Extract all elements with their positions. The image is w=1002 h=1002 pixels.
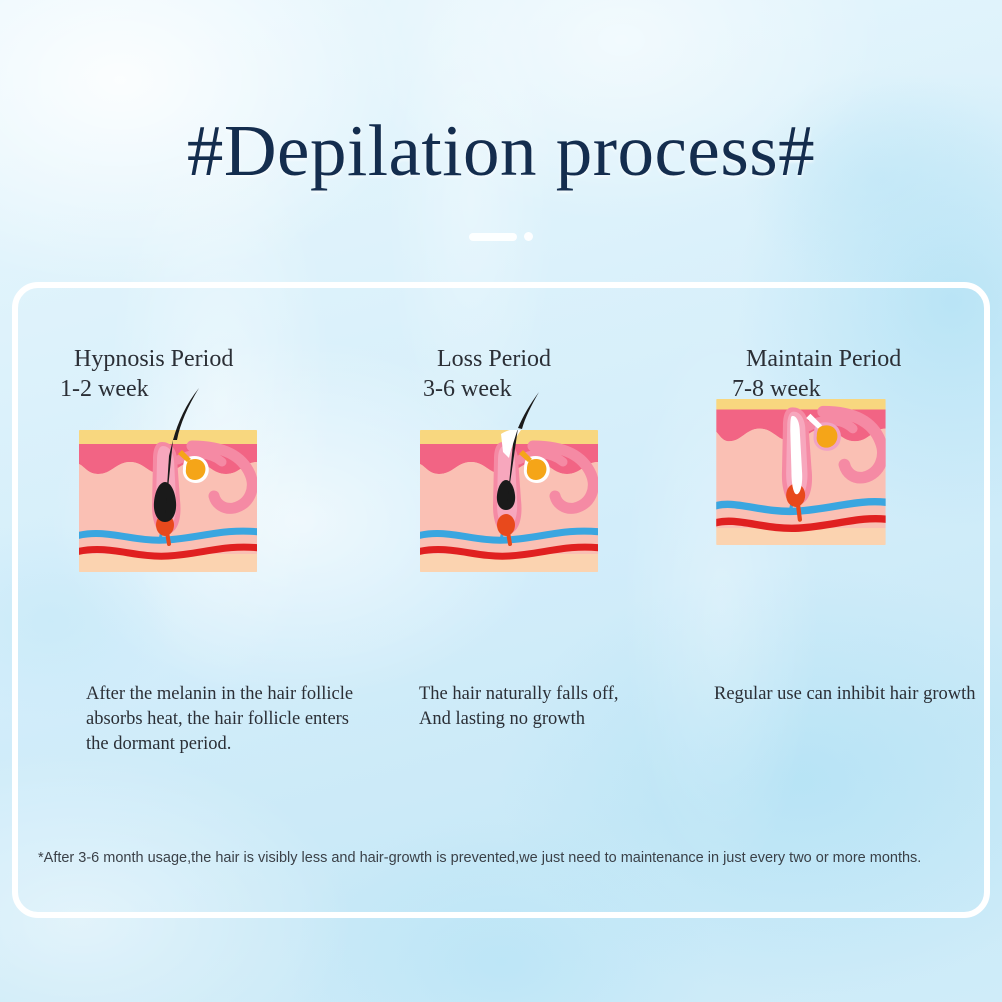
infographic-page: #Depilation process# Hypnosis Period 1-2… bbox=[0, 0, 1002, 1002]
caption-line: After the melanin in the hair follicle bbox=[86, 682, 376, 707]
title-divider bbox=[0, 232, 1002, 241]
process-columns: Hypnosis Period 1-2 week bbox=[12, 282, 990, 918]
caption-line: the dormant period. bbox=[86, 732, 376, 757]
step-period-label: Hypnosis Period bbox=[60, 344, 233, 374]
caption-line: absorbs heat, the hair follicle enters bbox=[86, 707, 376, 732]
caption-line: The hair naturally falls off, bbox=[419, 682, 699, 707]
skin-cross-section-hypnosis bbox=[74, 382, 274, 587]
step-period-label: Loss Period bbox=[423, 344, 551, 374]
footnote-text: *After 3-6 month usage,the hair is visib… bbox=[38, 848, 968, 868]
page-title: #Depilation process# bbox=[0, 112, 1002, 191]
step-caption-maintain: Regular use can inhibit hair growth bbox=[714, 682, 994, 707]
step-caption-hypnosis: After the melanin in the hair follicle a… bbox=[86, 682, 376, 757]
caption-line: And lasting no growth bbox=[419, 707, 699, 732]
skin-cross-section-loss bbox=[415, 382, 615, 587]
step-period-label: Maintain Period bbox=[732, 344, 901, 374]
process-step-maintain: Maintain Period 7-8 week bbox=[702, 282, 982, 918]
process-step-hypnosis: Hypnosis Period 1-2 week bbox=[42, 282, 362, 918]
caption-line: Regular use can inhibit hair growth bbox=[714, 682, 994, 707]
divider-dot-icon bbox=[524, 232, 533, 241]
skin-cross-section-maintain bbox=[712, 382, 892, 567]
process-step-loss: Loss Period 3-6 week bbox=[387, 282, 697, 918]
divider-bar-icon bbox=[469, 233, 517, 241]
step-caption-loss: The hair naturally falls off, And lastin… bbox=[419, 682, 699, 732]
